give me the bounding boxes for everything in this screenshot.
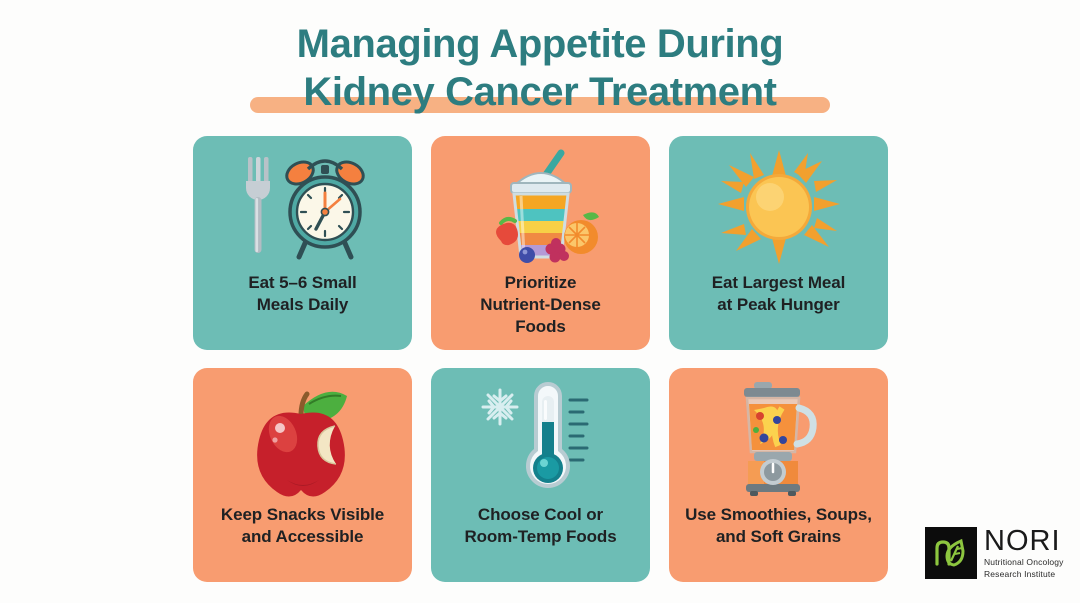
blender-icon xyxy=(677,380,880,498)
tip-card-small-meals[interactable]: Eat 5–6 SmallMeals Daily xyxy=(193,136,412,350)
infographic-canvas: Managing Appetite During Kidney Cancer T… xyxy=(0,0,1080,603)
tip-card-soft-foods[interactable]: Use Smoothies, Soups,and Soft Grains xyxy=(669,368,888,582)
fork-and-alarm-clock-icon xyxy=(201,148,404,266)
bitten-apple-icon xyxy=(201,380,404,498)
tip-card-nutrient-dense[interactable]: PrioritizeNutrient-DenseFoods xyxy=(431,136,650,350)
nori-logo[interactable]: NORI Nutritional Oncology Research Insti… xyxy=(925,521,1065,585)
tip-card-label: Eat Largest Mealat Peak Hunger xyxy=(712,272,846,316)
thermometer-snowflake-icon xyxy=(439,380,642,498)
tip-card-visible-snacks[interactable]: Keep Snacks Visibleand Accessible xyxy=(193,368,412,582)
tip-card-label: Eat 5–6 SmallMeals Daily xyxy=(248,272,356,316)
tip-card-label: Keep Snacks Visibleand Accessible xyxy=(221,504,384,548)
sun-icon xyxy=(677,148,880,266)
title-line-2-wrapper: Kidney Cancer Treatment xyxy=(289,68,790,116)
logo-subtitle-line-1: Nutritional Oncology xyxy=(984,557,1064,568)
tips-grid: Eat 5–6 SmallMeals Daily xyxy=(193,136,888,568)
tip-card-cool-foods[interactable]: Choose Cool orRoom-Temp Foods xyxy=(431,368,650,582)
title-line-2: Kidney Cancer Treatment xyxy=(303,70,776,114)
leaf-monogram-icon xyxy=(925,527,977,579)
tip-card-peak-hunger[interactable]: Eat Largest Mealat Peak Hunger xyxy=(669,136,888,350)
title-line-1: Managing Appetite During xyxy=(0,20,1080,68)
logo-name: NORI xyxy=(984,527,1064,556)
smoothie-cup-with-fruit-icon xyxy=(439,148,642,266)
logo-subtitle-line-2: Research Institute xyxy=(984,569,1064,580)
tip-card-label: Choose Cool orRoom-Temp Foods xyxy=(464,504,616,548)
logo-text-block: NORI Nutritional Oncology Research Insti… xyxy=(984,527,1064,579)
tip-card-label: PrioritizeNutrient-DenseFoods xyxy=(480,272,600,338)
tip-card-label: Use Smoothies, Soups,and Soft Grains xyxy=(685,504,872,548)
page-title: Managing Appetite During Kidney Cancer T… xyxy=(0,20,1080,116)
